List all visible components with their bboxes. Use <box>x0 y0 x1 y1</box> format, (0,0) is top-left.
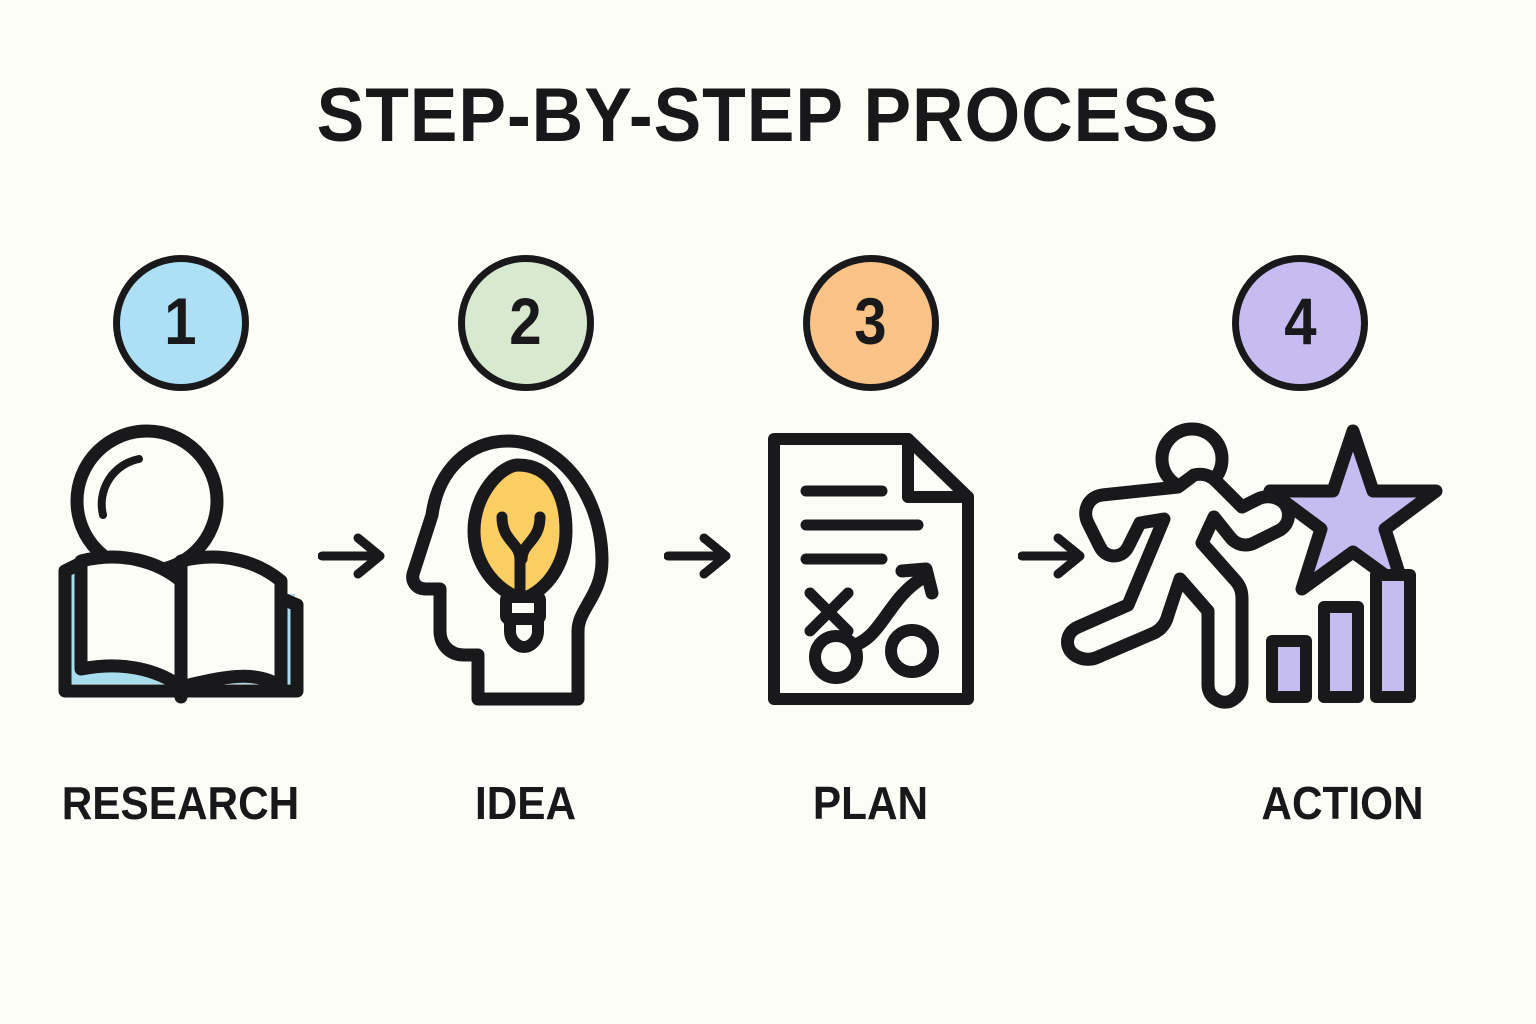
process-step-plan[interactable]: 3 <box>698 255 1043 855</box>
step-badge-4: 4 <box>1232 255 1368 391</box>
process-step-idea[interactable]: 2 I <box>353 255 698 855</box>
step-label-research: RESEARCH <box>22 780 339 826</box>
step-badge-2: 2 <box>458 255 594 391</box>
step-number-1: 1 <box>164 288 196 354</box>
arrow-idea-to-plan-icon <box>664 528 738 584</box>
step-badge-1: 1 <box>113 255 249 391</box>
step-number-3: 3 <box>854 288 886 354</box>
head-with-lightbulb-icon <box>353 419 698 719</box>
process-steps: 1 <box>0 0 1536 1024</box>
document-strategy-icon <box>698 419 1043 719</box>
arrow-plan-to-action-icon <box>1018 528 1092 584</box>
running-person-star-chart-icon <box>1056 419 1456 719</box>
step-number-2: 2 <box>509 288 541 354</box>
infographic-canvas: STEP-BY-STEP PROCESS 1 <box>0 0 1536 1024</box>
step-label-idea: IDEA <box>367 780 684 826</box>
step-number-4: 4 <box>1284 288 1316 354</box>
process-step-research[interactable]: 1 <box>8 255 353 855</box>
step-badge-3: 3 <box>803 255 939 391</box>
step-label-action: ACTION <box>1184 780 1501 826</box>
magnifier-over-book-icon <box>8 419 353 719</box>
step-label-plan: PLAN <box>712 780 1029 826</box>
arrow-research-to-idea-icon <box>318 528 392 584</box>
